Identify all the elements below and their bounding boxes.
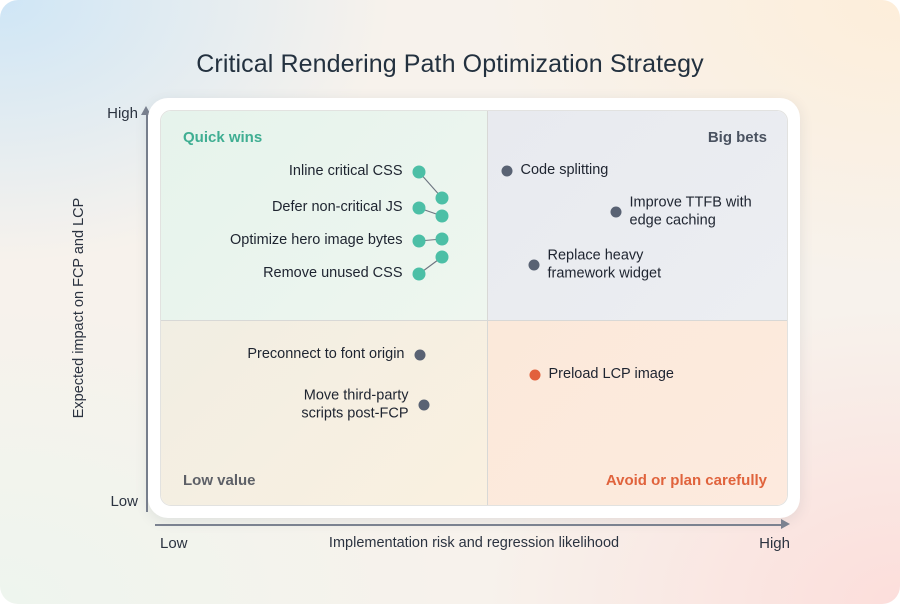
- data-point[interactable]: [529, 260, 540, 271]
- x-axis-line: [155, 524, 783, 526]
- data-point-label: Move third-party scripts post-FCP: [301, 387, 408, 422]
- data-point[interactable]: [530, 370, 541, 381]
- data-point-label: Defer non-critical JS: [272, 199, 403, 217]
- data-point-label: Remove unused CSS: [263, 265, 402, 283]
- x-axis-title: Implementation risk and regression likel…: [148, 535, 800, 551]
- x-axis-arrow-icon: [781, 519, 790, 529]
- data-point[interactable]: [611, 207, 622, 218]
- quadrant-vertical-divider: [487, 111, 488, 506]
- data-point[interactable]: [415, 350, 426, 361]
- data-point-anchor[interactable]: [413, 268, 426, 281]
- data-point[interactable]: [436, 251, 449, 264]
- data-point-label: Preload LCP image: [549, 366, 674, 384]
- plot-card: Quick wins Big bets Low value Avoid or p…: [148, 98, 800, 518]
- data-point-label: Replace heavy framework widget: [548, 247, 662, 282]
- quadrant-caption-big-bets: Big bets: [708, 129, 767, 146]
- data-point-anchor[interactable]: [413, 202, 426, 215]
- page-title: Critical Rendering Path Optimization Str…: [0, 50, 900, 79]
- data-point-label: Optimize hero image bytes: [230, 232, 402, 250]
- data-point-label: Improve TTFB with edge caching: [630, 194, 752, 229]
- data-point-anchor[interactable]: [413, 166, 426, 179]
- quadrant-plot: Quick wins Big bets Low value Avoid or p…: [160, 110, 788, 506]
- data-point[interactable]: [436, 210, 449, 223]
- data-point[interactable]: [436, 192, 449, 205]
- y-axis-title: Expected impact on FCP and LCP: [71, 148, 87, 468]
- data-point[interactable]: [436, 233, 449, 246]
- quadrant-horizontal-divider: [161, 320, 788, 321]
- data-point-label: Inline critical CSS: [289, 163, 403, 181]
- y-axis-low-label: Low: [60, 493, 138, 510]
- data-point[interactable]: [502, 166, 513, 177]
- quadrant-caption-avoid: Avoid or plan carefully: [606, 472, 767, 489]
- data-point[interactable]: [419, 400, 430, 411]
- quadrant-caption-low-value: Low value: [183, 472, 256, 489]
- y-axis-high-label: High: [60, 105, 138, 122]
- data-point-anchor[interactable]: [413, 235, 426, 248]
- chart-page: Critical Rendering Path Optimization Str…: [0, 0, 900, 604]
- data-point-label: Code splitting: [521, 162, 609, 180]
- quadrant-caption-quick-wins: Quick wins: [183, 129, 262, 146]
- data-point-label: Preconnect to font origin: [247, 346, 404, 364]
- x-axis-high-label: High: [759, 535, 790, 552]
